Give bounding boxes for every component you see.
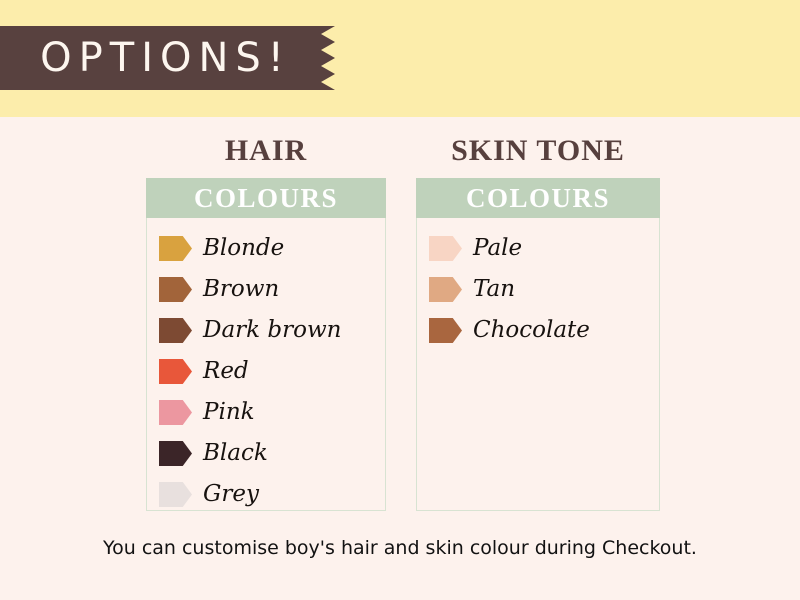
list-item[interactable]: Dark brown <box>159 310 385 351</box>
list-item[interactable]: Grey <box>159 474 385 515</box>
skin-tone-column: SKIN TONE COLOURS Pale Tan Chocolate <box>416 130 660 511</box>
hair-colours-list: Blonde Brown Dark brown Red Pink <box>147 218 385 515</box>
colour-label: Brown <box>203 278 279 301</box>
colour-label: Pink <box>203 401 255 424</box>
colour-label: Grey <box>203 483 259 506</box>
banner-title: OPTIONS! <box>0 26 315 90</box>
colour-swatch-chocolate <box>429 318 462 343</box>
skin-tone-column-title: SKIN TONE <box>416 130 660 166</box>
list-item[interactable]: Blonde <box>159 228 385 269</box>
list-item[interactable]: Pale <box>429 228 659 269</box>
list-item[interactable]: Tan <box>429 269 659 310</box>
colour-label: Red <box>203 360 249 383</box>
colour-label: Black <box>203 442 268 465</box>
colour-swatch-pale <box>429 236 462 261</box>
colour-label: Pale <box>473 237 522 260</box>
hair-colours-header: COLOURS <box>146 178 386 218</box>
skin-tone-colours-header: COLOURS <box>416 178 660 218</box>
colour-label: Blonde <box>203 237 284 260</box>
colour-swatch-brown <box>159 277 192 302</box>
list-item[interactable]: Pink <box>159 392 385 433</box>
list-item[interactable]: Chocolate <box>429 310 659 351</box>
colour-swatch-pink <box>159 400 192 425</box>
hair-colours-card: COLOURS Blonde Brown Dark brown Red <box>146 178 386 511</box>
colour-swatch-blonde <box>159 236 192 261</box>
colour-swatch-red <box>159 359 192 384</box>
colour-label: Chocolate <box>473 319 590 342</box>
hair-column-title: HAIR <box>146 130 386 166</box>
colour-label: Tan <box>473 278 515 301</box>
list-item[interactable]: Brown <box>159 269 385 310</box>
colour-swatch-tan <box>429 277 462 302</box>
colour-swatch-grey <box>159 482 192 507</box>
hair-column: HAIR COLOURS Blonde Brown Dark brown <box>146 130 386 511</box>
list-item[interactable]: Black <box>159 433 385 474</box>
options-columns: HAIR COLOURS Blonde Brown Dark brown <box>0 130 800 525</box>
footer-caption: You can customise boy's hair and skin co… <box>0 537 800 559</box>
skin-tone-colours-list: Pale Tan Chocolate <box>417 218 659 351</box>
list-item[interactable]: Red <box>159 351 385 392</box>
colour-swatch-black <box>159 441 192 466</box>
skin-tone-colours-card: COLOURS Pale Tan Chocolate <box>416 178 660 511</box>
colour-label: Dark brown <box>203 319 341 342</box>
ribbon-zigzag-edge-icon <box>314 26 335 90</box>
colour-swatch-dark-brown <box>159 318 192 343</box>
options-ribbon-banner: OPTIONS! <box>0 26 334 90</box>
